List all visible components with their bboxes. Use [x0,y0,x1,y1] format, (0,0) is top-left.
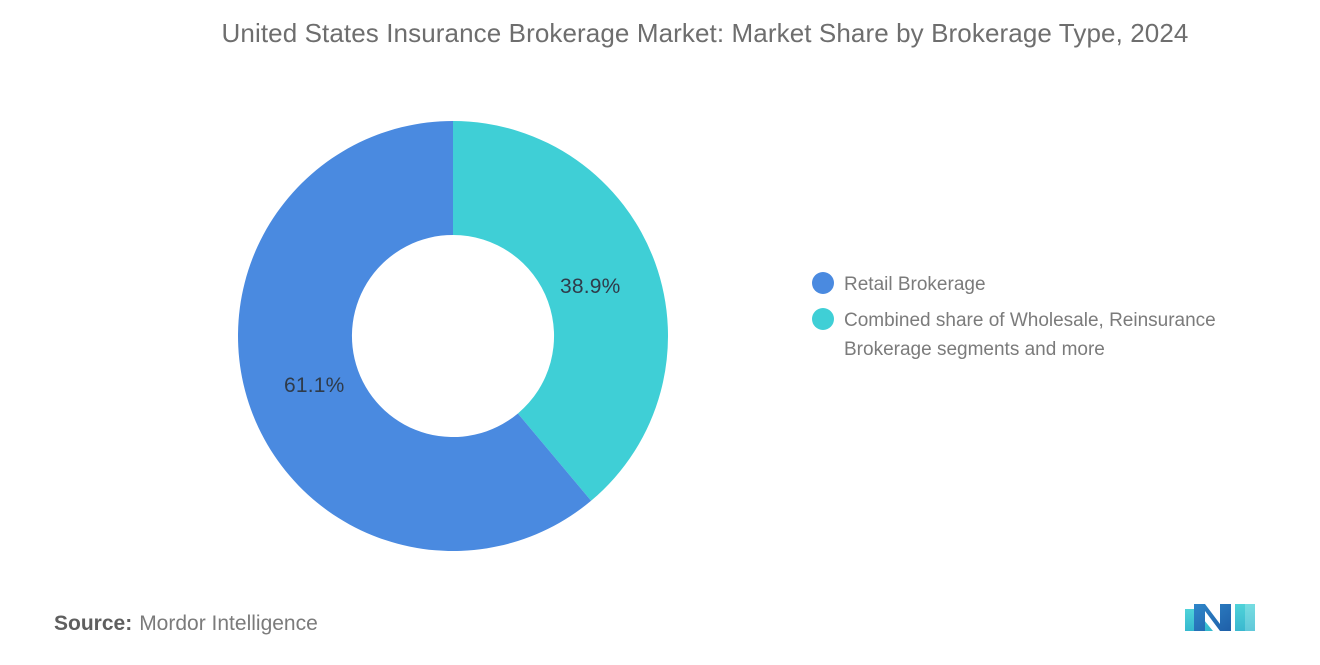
chart-title: United States Insurance Brokerage Market… [160,14,1250,52]
legend-swatch-icon-retail-brokerage [812,272,834,294]
legend-item-retail-brokerage[interactable]: Retail Brokerage [812,270,1302,299]
legend-item-combined-share[interactable]: Combined share of Wholesale, Reinsurance… [812,306,1302,364]
source-note: Source:Mordor Intelligence [54,612,318,636]
source-label: Source: [54,612,132,635]
donut-chart-svg [238,121,668,551]
source-value: Mordor Intelligence [139,612,318,635]
slice-label-retail-brokerage: 61.1% [284,374,345,398]
legend-label-combined-share: Combined share of Wholesale, Reinsurance… [844,306,1294,364]
chart-legend: Retail Brokerage Combined share of Whole… [812,270,1302,371]
donut-chart: 38.9% 61.1% [238,121,668,551]
mordor-intelligence-logo [1183,597,1257,637]
legend-swatch-icon-combined-share [812,308,834,330]
slice-label-combined-share: 38.9% [560,275,621,299]
legend-label-retail-brokerage: Retail Brokerage [844,270,986,299]
